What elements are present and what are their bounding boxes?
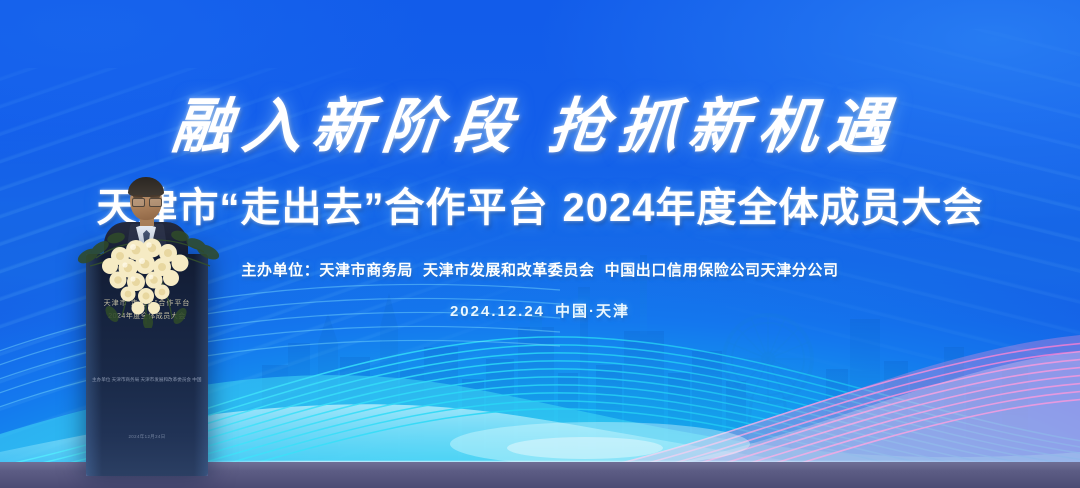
speaker-eye-right (149, 198, 162, 207)
event-headline: 融入新阶段抢抓新机遇 (0, 0, 1080, 165)
organizer-1: 天津市商务局 (319, 262, 413, 279)
organizers-label: 主办单位： (241, 262, 319, 279)
subtitle-meeting: 2024年度全体成员大会 (563, 186, 984, 230)
conference-stage-backdrop: 融入新阶段抢抓新机遇 天津市“走出去”合作平台2024年度全体成员大会 主办单位… (0, 0, 1080, 488)
speaker-hair (128, 177, 164, 197)
headline-phrase-1: 融入新阶段 (169, 94, 526, 160)
speaker-podium-group: 天津市“走出去”合作平台 2024年度全体成员大会 主办单位 天津市商务局 天津… (86, 176, 208, 476)
speaker-eye-left (132, 198, 145, 207)
podium-date: 2024年12月24日 (92, 434, 202, 440)
organizer-3: 中国出口信用保险公司天津分公司 (605, 262, 839, 279)
floral-arrangement (76, 222, 222, 328)
organizer-2: 天津市发展和改革委员会 (423, 262, 595, 279)
event-date: 2024.12.24 (450, 303, 545, 320)
event-location: 中国·天津 (555, 303, 630, 320)
flower-blossoms (102, 239, 189, 315)
podium-organizers: 主办单位 天津市商务局 天津市发展和改革委员会 中国出口信用保险公司天津分公司 (92, 376, 202, 383)
headline-phrase-2: 抢抓新机遇 (545, 94, 902, 160)
